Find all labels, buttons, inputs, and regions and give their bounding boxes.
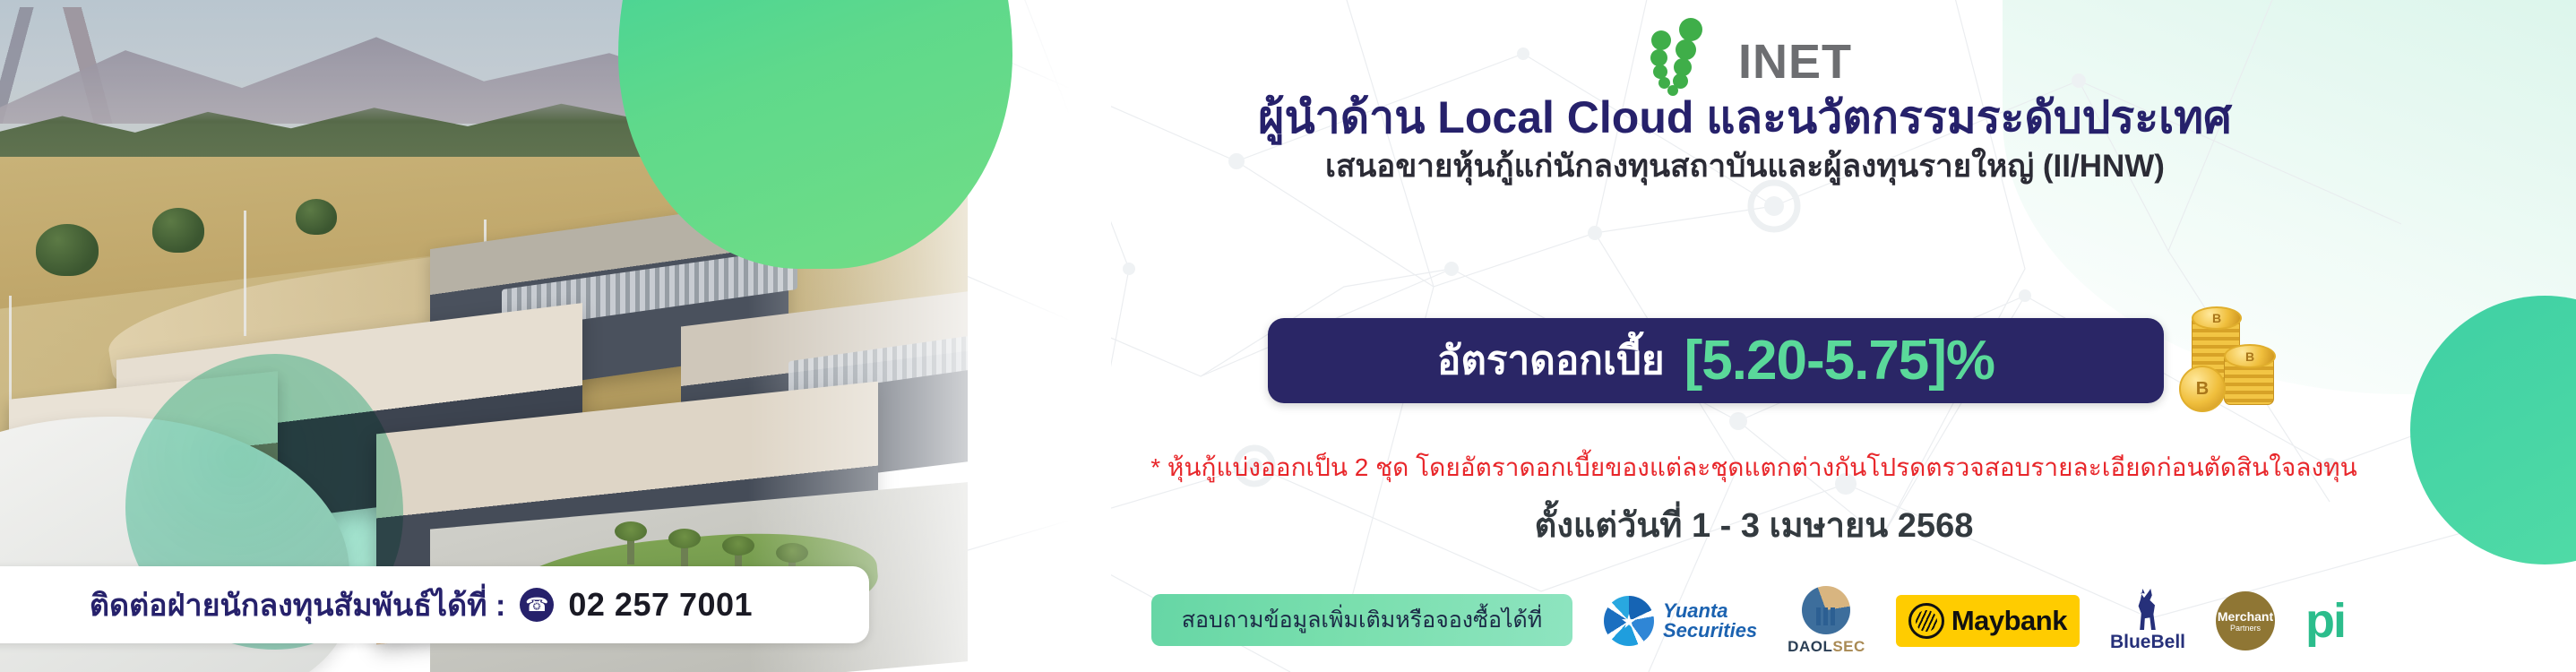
interest-rate-box: อัตราดอกเบี้ย [5.20-5.75]% [1268,318,2164,403]
investor-relations-contact-bar: ติดต่อฝ่ายนักลงทุนสัมพันธ์ได้ที่ : ☎ 02 … [0,566,869,643]
yuanta-line2: Securities [1663,619,1757,642]
merchant-line1: Merchant [2218,610,2273,623]
yuanta-star-icon [1604,596,1654,646]
maybank-tiger-icon [1908,603,1944,639]
gold-coin-stack-icon: B B B [2177,306,2285,416]
inet-logo: INET [1640,16,1944,88]
daol-line1: DAOL [1788,638,1832,655]
contact-label: ติดต่อฝ่ายนักลงทุนสัมพันธ์ได้ที่ : [90,581,505,629]
phone-icon: ☎ [520,588,554,622]
promo-banner: INET ผู้นำด้าน Local Cloud และนวัตกรรมระ… [0,0,2576,672]
partner-logo-pi[interactable]: pi [2305,582,2345,659]
interest-rate-label: อัตราดอกเบี้ย [1437,341,1665,381]
partner-logo-merchant-partners[interactable]: Merchant Partners [2216,582,2275,659]
daol-line2: SEC [1832,638,1865,655]
interest-rate-value: [5.20-5.75]% [1684,333,1994,389]
bluebell-deer-icon [2130,589,2166,630]
disclaimer-text: * หุ้นกู้แบ่งออกเป็น 2 ชุด โดยอัตราดอกเบ… [968,448,2540,487]
inet-dots-icon [1640,16,1738,88]
pi-wordmark-icon: pi [2305,597,2345,645]
inquiry-cta-button[interactable]: สอบถามข้อมูลเพิ่มเติมหรือจองซื้อได้ที่ [1151,594,1572,646]
partner-logo-yuanta[interactable]: Yuanta Securities [1604,582,1757,659]
offering-date-text: ตั้งแต่วันที่ 1 - 3 เมษายน 2568 [968,497,2540,552]
partner-logo-row: Yuanta Securities DAOLSEC Maybank BlueBe… [1604,582,2345,659]
daol-wordmark: DAOLSEC [1788,638,1865,656]
maybank-wordmark: Maybank [1951,605,2067,637]
partner-logo-maybank[interactable]: Maybank [1896,582,2080,659]
bluebell-wordmark: BlueBell [2110,632,2185,653]
yuanta-line1: Yuanta [1663,599,1728,622]
contact-phone-number[interactable]: 02 257 7001 [568,586,753,624]
page-subheadline: เสนอขายหุ้นกู้แก่นักลงทุนสถาบันและผู้ลงท… [968,142,2522,191]
inet-wordmark: INET [1738,34,1852,90]
merchant-partners-circle-icon: Merchant Partners [2216,591,2275,650]
daol-pie-chart-icon [1802,586,1850,634]
merchant-line2: Partners [2230,625,2261,633]
yuanta-wordmark: Yuanta Securities [1663,601,1757,642]
maybank-badge: Maybank [1896,595,2080,647]
partner-logo-bluebell[interactable]: BlueBell [2110,582,2185,659]
bluebell-lockup: BlueBell [2110,589,2185,653]
partner-logo-daolsec[interactable]: DAOLSEC [1788,582,1865,659]
